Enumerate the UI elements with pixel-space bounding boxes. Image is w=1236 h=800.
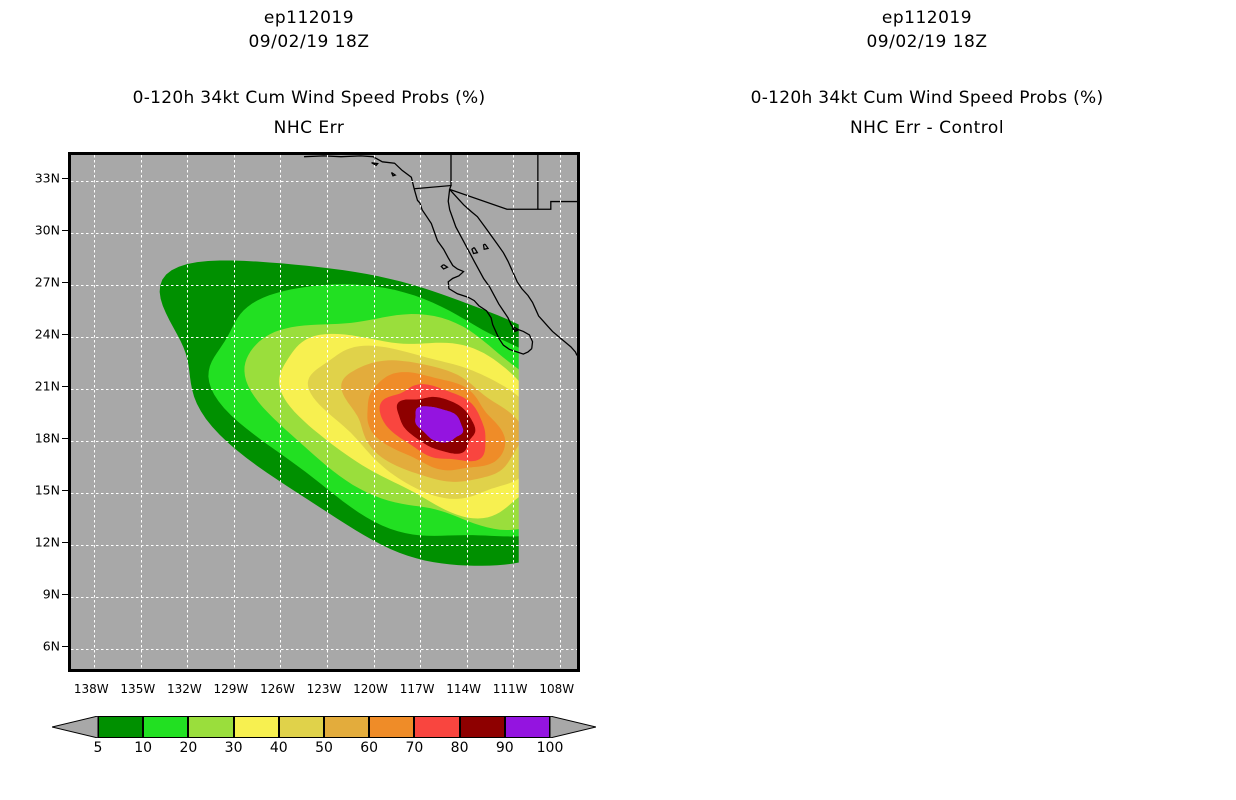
- y-tick-label: 21N: [20, 379, 60, 394]
- colorbar-band[interactable]: [414, 716, 459, 738]
- x-tick-label: 129W: [208, 682, 254, 696]
- y-tick-label: 9N: [20, 587, 60, 602]
- x-tick-label: 111W: [487, 682, 533, 696]
- y-tick: [62, 594, 68, 595]
- coastline: [472, 248, 477, 254]
- chart-title-right: 0-120h 34kt Cum Wind Speed Probs (%): [618, 88, 1236, 108]
- panel-nhc-err: ep112019 09/02/19 18Z 0-120h 34kt Cum Wi…: [0, 0, 618, 800]
- colorbar-ticks: 5102030405060708090100: [98, 740, 550, 760]
- valid-time-left: 09/02/19 18Z: [0, 32, 618, 52]
- y-tick-label: 24N: [20, 327, 60, 342]
- x-tick-label: 126W: [254, 682, 300, 696]
- colorbar-tick-label: 20: [168, 740, 208, 756]
- chart-subtitle-right: NHC Err - Control: [618, 118, 1236, 138]
- coastline: [441, 265, 447, 269]
- x-tick-label: 108W: [534, 682, 580, 696]
- colorbar-band[interactable]: [324, 716, 369, 738]
- colorbar-arrow-right: [550, 716, 596, 738]
- coastline: [304, 156, 414, 189]
- valid-time-right: 09/02/19 18Z: [618, 32, 1236, 52]
- colorbar-band[interactable]: [460, 716, 505, 738]
- colorbar-tick-label: 100: [530, 740, 570, 756]
- y-tick: [62, 646, 68, 647]
- coastline: [391, 172, 395, 175]
- colorbar-left[interactable]: 5102030405060708090100: [98, 716, 550, 738]
- storm-id-right: ep112019: [618, 8, 1236, 28]
- colorbar-tick-label: 50: [304, 740, 344, 756]
- colorbar-tick-label: 30: [214, 740, 254, 756]
- map-frame-left: [68, 152, 580, 672]
- chart-subtitle-left: NHC Err: [0, 118, 618, 138]
- colorbar-band[interactable]: [369, 716, 414, 738]
- x-tick-label: 135W: [115, 682, 161, 696]
- x-tick-label: 138W: [68, 682, 114, 696]
- map-left[interactable]: [68, 152, 580, 672]
- colorbar-band[interactable]: [188, 716, 233, 738]
- colorbar-tick-label: 90: [485, 740, 525, 756]
- coastline: [372, 163, 378, 166]
- y-tick-label: 30N: [20, 223, 60, 238]
- colorbar-tick-label: 60: [349, 740, 389, 756]
- probability-contours: [71, 155, 577, 669]
- x-tick-label: 117W: [394, 682, 440, 696]
- x-tick-label: 132W: [161, 682, 207, 696]
- y-tick: [62, 230, 68, 231]
- colorbar-band[interactable]: [234, 716, 279, 738]
- colorbar-arrow-left: [52, 716, 98, 738]
- x-tick-label: 123W: [301, 682, 347, 696]
- y-tick-label: 33N: [20, 171, 60, 186]
- panel-nhc-err-minus-control: ep112019 09/02/19 18Z 0-120h 34kt Cum Wi…: [618, 0, 1236, 800]
- y-tick: [62, 386, 68, 387]
- colorbar-tick-label: 10: [123, 740, 163, 756]
- y-tick-label: 27N: [20, 275, 60, 290]
- coastline: [484, 244, 489, 249]
- y-tick: [62, 334, 68, 335]
- storm-id-left: ep112019: [0, 8, 618, 28]
- x-tick-label: 114W: [441, 682, 487, 696]
- colorbar-tick-label: 70: [394, 740, 434, 756]
- y-tick: [62, 490, 68, 491]
- x-tick-label: 120W: [348, 682, 394, 696]
- colorbar-tick-label: 5: [78, 740, 118, 756]
- colorbar-band[interactable]: [98, 716, 143, 738]
- colorbar-band[interactable]: [505, 716, 550, 738]
- y-tick-label: 12N: [20, 535, 60, 550]
- colorbar-tick-label: 80: [440, 740, 480, 756]
- y-tick: [62, 438, 68, 439]
- y-tick-label: 15N: [20, 483, 60, 498]
- chart-title-left: 0-120h 34kt Cum Wind Speed Probs (%): [0, 88, 618, 108]
- y-tick: [62, 178, 68, 179]
- colorbar-band[interactable]: [279, 716, 324, 738]
- colorbar-tick-label: 40: [259, 740, 299, 756]
- colorbar-band[interactable]: [143, 716, 188, 738]
- y-tick: [62, 282, 68, 283]
- y-tick-label: 6N: [20, 639, 60, 654]
- contour-east-mask: [519, 155, 577, 669]
- y-tick: [62, 542, 68, 543]
- y-tick-label: 18N: [20, 431, 60, 446]
